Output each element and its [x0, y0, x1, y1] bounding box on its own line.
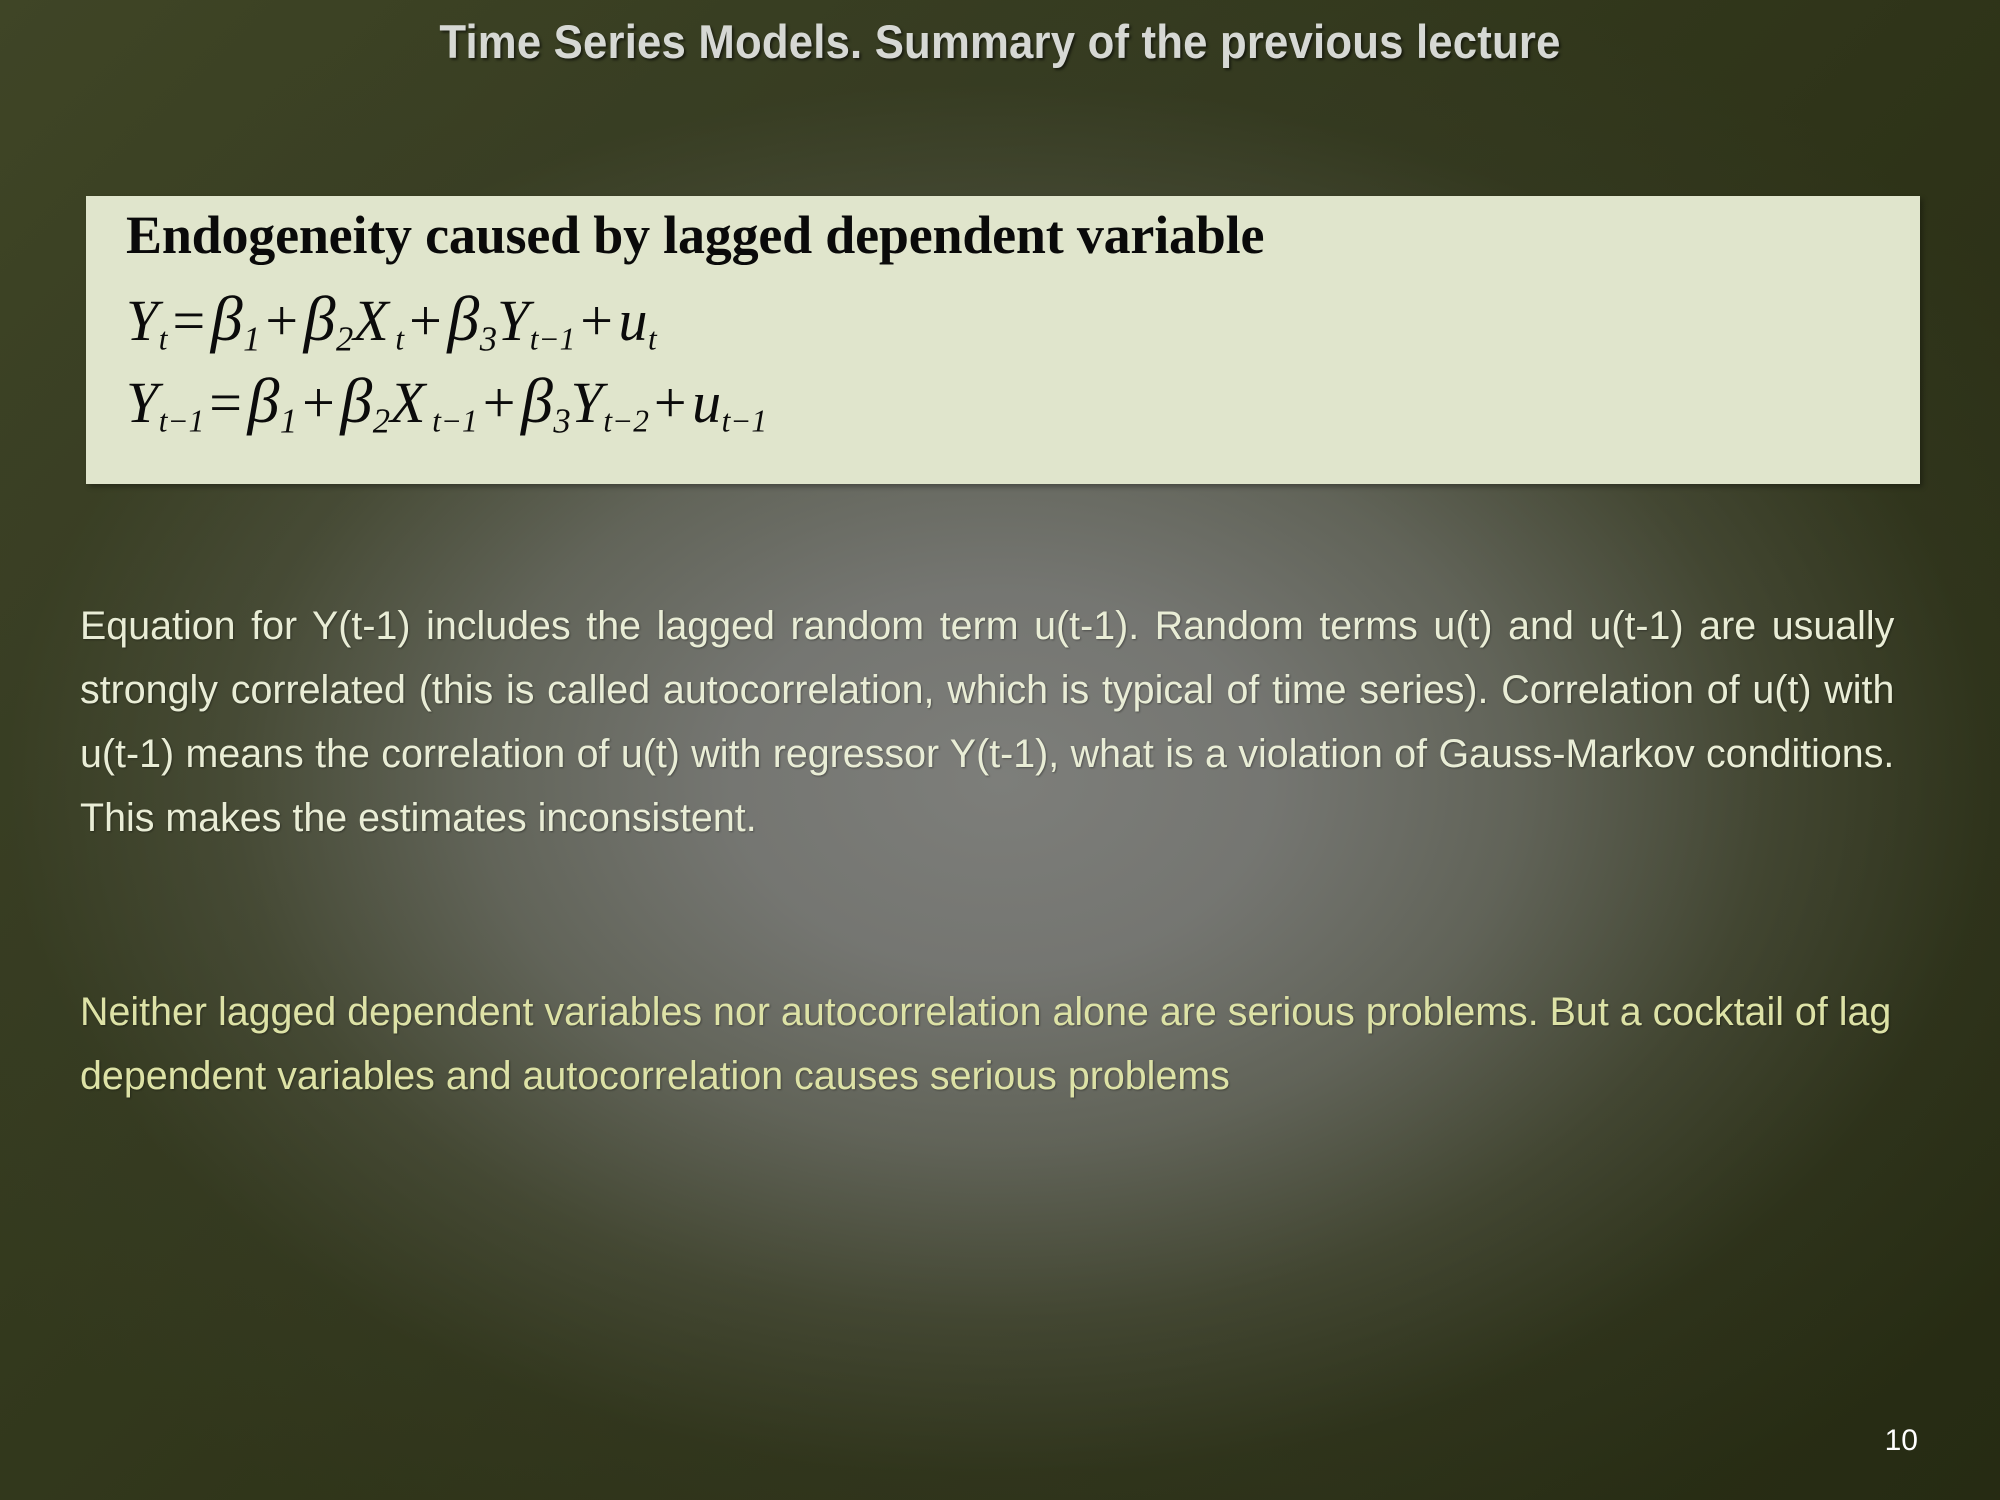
- formula-heading: Endogeneity caused by lagged dependent v…: [126, 204, 1264, 266]
- eq2-beta2: β2: [340, 365, 390, 436]
- eq1-beta1: β1: [211, 283, 261, 354]
- eq1-beta3: β3: [447, 283, 497, 354]
- eq2-x-term: X t−1: [390, 370, 478, 435]
- eq1-u-term: ut: [618, 288, 656, 353]
- equation-2: Yt−1=β1+β2X t−1+β3Yt−2+ut−1: [126, 364, 767, 441]
- page-title: Time Series Models. Summary of the previ…: [70, 14, 1930, 69]
- eq1-plus-3: +: [575, 288, 618, 353]
- eq2-beta1: β1: [247, 365, 297, 436]
- body-paragraph-2: Neither lagged dependent variables nor a…: [80, 980, 1894, 1108]
- eq1-plus-1: +: [260, 288, 303, 353]
- eq2-plus-3: +: [649, 370, 692, 435]
- eq1-plus-2: +: [404, 288, 447, 353]
- eq2-plus-2: +: [478, 370, 521, 435]
- equation-1: Yt=β1+β2X t+β3Yt−1+ut: [126, 282, 657, 359]
- eq2-u-term: ut−1: [692, 370, 767, 435]
- body-paragraph-1: Equation for Y(t-1) includes the lagged …: [80, 594, 1894, 850]
- eq2-equals: =: [204, 370, 247, 435]
- eq1-lhs: Yt: [126, 288, 167, 353]
- page-number: 10: [1885, 1424, 1918, 1458]
- eq1-x-term: X t: [353, 288, 404, 353]
- eq2-plus-1: +: [297, 370, 340, 435]
- formula-callout-box: Endogeneity caused by lagged dependent v…: [86, 196, 1920, 484]
- eq2-beta3: β3: [521, 365, 571, 436]
- eq2-lhs: Yt−1: [126, 370, 204, 435]
- eq1-equals: =: [167, 288, 210, 353]
- eq2-y-lag: Yt−2: [571, 370, 649, 435]
- eq1-y-lag: Yt−1: [497, 288, 575, 353]
- eq1-beta2: β2: [304, 283, 354, 354]
- slide-canvas: Time Series Models. Summary of the previ…: [0, 0, 2000, 1500]
